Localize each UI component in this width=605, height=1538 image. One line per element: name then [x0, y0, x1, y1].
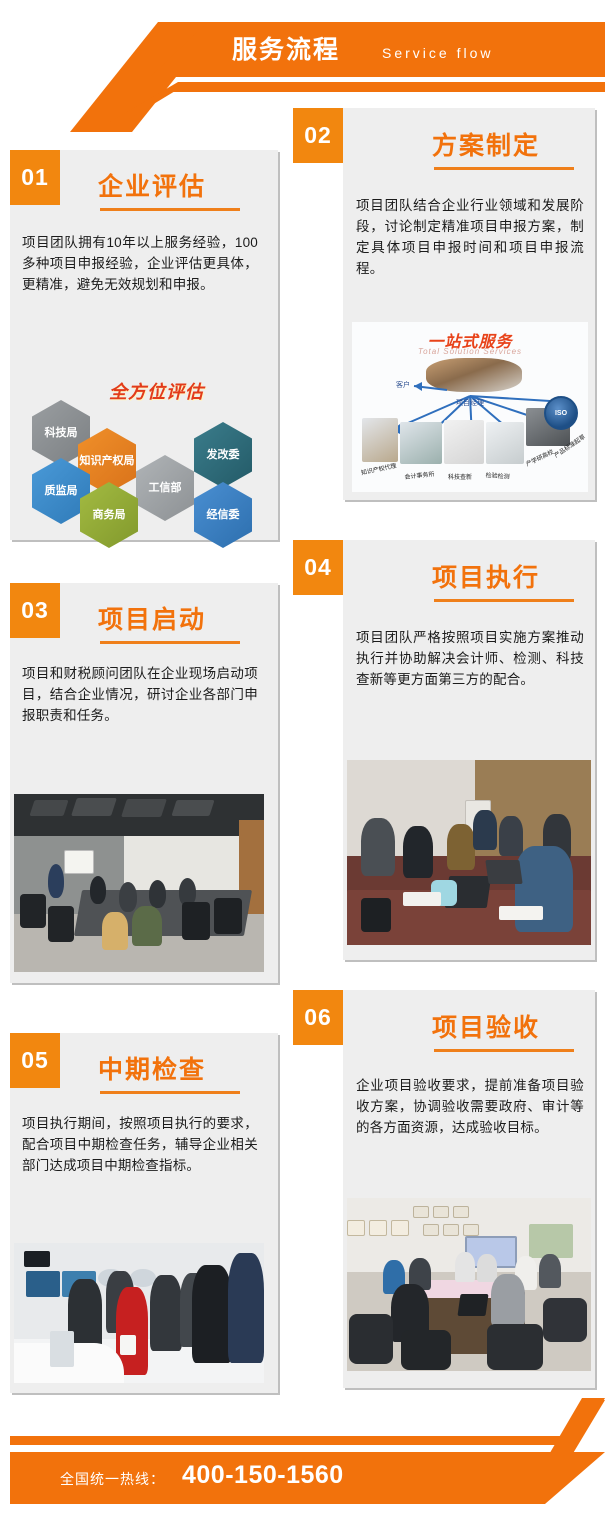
page-header: 服务流程 Service flow: [0, 0, 605, 110]
oss-node-manager: 项目经理: [456, 398, 484, 408]
title-underline-06: [434, 1049, 574, 1052]
page-subtitle: Service flow: [382, 40, 493, 66]
hexagon-heading: 全方位评估: [109, 378, 204, 404]
iso-seal-icon: ISO: [544, 396, 578, 430]
oss-node-customer: 客户: [396, 380, 410, 390]
step-body-06: 企业项目验收要求，提前准备项目验收方案，协调验收需要政府、审计等的各方面资源，达…: [356, 1075, 584, 1138]
step-title-05: 中期检查: [98, 1050, 206, 1086]
step-badge-05: 05: [10, 1033, 60, 1088]
header-bar: [150, 22, 605, 77]
step-badge-01: 01: [10, 150, 60, 205]
step-title-03: 项目启动: [98, 600, 206, 636]
service-flow-poster: 服务流程 Service flow 01 企业评估 项目团队拥有10年以上服务经…: [0, 0, 605, 1538]
step-body-02: 项目团队结合企业行业领域和发展阶段，讨论制定精准项目申报方案，制定具体项目申报时…: [356, 195, 584, 279]
one-stop-service-diagram-02: 一站式服务 Total Solution Services 客户 项目经理: [352, 322, 588, 492]
hotline-number[interactable]: 400-150-1560: [182, 1461, 344, 1490]
step-title-01: 企业评估: [98, 167, 206, 203]
page-title: 服务流程: [232, 31, 340, 69]
title-underline-02: [434, 167, 574, 170]
title-underline-04: [434, 599, 574, 602]
step-title-06: 项目验收: [432, 1008, 540, 1044]
step-body-01: 项目团队拥有10年以上服务经验，100多种项目申报经验，企业评估更具体，更精准，…: [22, 232, 258, 295]
hotline-label: 全国统一热线：: [60, 1469, 165, 1489]
title-underline-03: [100, 641, 240, 644]
step-badge-03: 03: [10, 583, 60, 638]
step-title-04: 项目执行: [432, 558, 540, 594]
footer-accent-line: [10, 1436, 570, 1445]
step-body-04: 项目团队严格按照项目实施方案推动执行并协助解决会计师、检测、科技查新等更方面第三…: [356, 627, 584, 690]
step-badge-04: 04: [293, 540, 343, 595]
step-body-03: 项目和财税顾问团队在企业现场启动项目，结合企业情况，研讨企业各部门申报职责和任务…: [22, 663, 258, 726]
step-photo-06: [347, 1198, 591, 1371]
step-photo-03: [14, 794, 264, 972]
oss-photo-1: [362, 418, 398, 462]
step-badge-02: 02: [293, 108, 343, 163]
hexagon-diagram-01: 全方位评估 科技局 知识产权局 发改委 质监局 工信部 经信委 商务局: [14, 370, 274, 530]
title-underline-01: [100, 208, 240, 211]
oss-caption-3: 科技查新: [448, 472, 472, 481]
title-underline-05: [100, 1091, 240, 1094]
step-badge-06: 06: [293, 990, 343, 1045]
step-body-05: 项目执行期间，按照项目执行的要求，配合项目中期检查任务，辅导企业相关部门达成项目…: [22, 1113, 258, 1176]
hex-node-gongxinbu: 工信部: [136, 455, 194, 521]
oss-photo-2: [400, 422, 442, 464]
oss-caption-4: 检验检测: [485, 470, 510, 481]
header-accent-line: [168, 82, 605, 92]
oss-photo-4: [486, 422, 524, 464]
step-photo-05: [14, 1243, 264, 1383]
oss-photo-3: [444, 420, 484, 464]
step-photo-04: [347, 760, 591, 945]
hex-node-fagaiwei: 发改委: [194, 422, 252, 488]
step-title-02: 方案制定: [432, 126, 540, 162]
